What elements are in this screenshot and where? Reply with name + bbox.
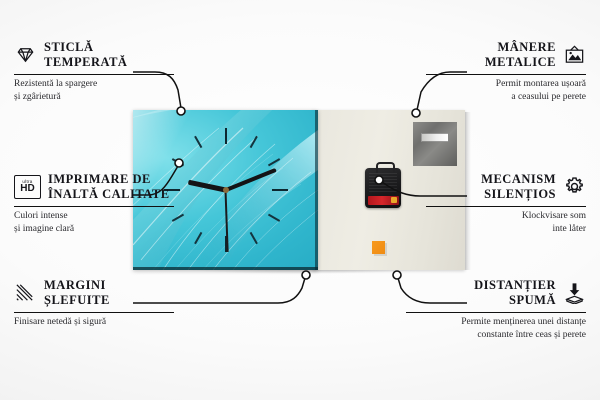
- callout-rule: [426, 206, 586, 208]
- foam-spacer: [372, 241, 385, 254]
- callout-subtitle: Culori intense și imagine clară: [14, 210, 174, 236]
- callout-subtitle: Permite menținerea unei distanțe constan…: [406, 316, 586, 342]
- battery-plus-terminal: [391, 197, 397, 203]
- callout-imprimare-inalta-calitate: ultraHD IMPRIMARE DE ÎNALTĂ CALITATE Cul…: [14, 172, 174, 236]
- callout-title: MECANISM SILENȚIOS: [481, 172, 556, 202]
- clock-center-pin: [223, 187, 229, 193]
- callout-rule: [14, 74, 174, 76]
- callout-subtitle: Rezistentă la spargere și zgârietură: [14, 78, 174, 104]
- glass-right-edge: [315, 110, 318, 270]
- callout-header: MARGINI ȘLEFUITE: [14, 278, 174, 308]
- callout-rule: [14, 312, 174, 314]
- mechanism-hanging-loop: [376, 162, 395, 173]
- callout-manere-metalice: MÂNERE METALICE Permit montarea ușoară a…: [426, 40, 586, 104]
- callout-title: STICLĂ TEMPERATĂ: [44, 40, 127, 70]
- callout-distantier-spuma: DISTANȚIER SPUMĂ Permite menținerea unei…: [406, 278, 586, 342]
- callout-margini-slefuite: MARGINI ȘLEFUITE Finisare netedă și sigu…: [14, 278, 174, 329]
- infographic-stage: STICLĂ TEMPERATĂ Rezistentă la spargere …: [0, 0, 600, 400]
- ultra-hd-icon: ultraHD: [14, 175, 41, 199]
- picture-hanger-icon: [563, 43, 586, 66]
- polished-edge-icon: [14, 281, 37, 304]
- callout-mecanism-silentios: MECANISM SILENȚIOS Klockvisare som inte …: [426, 172, 586, 236]
- callout-subtitle: Finisare netedă și sigură: [14, 316, 174, 329]
- mechanism-ridges: [369, 173, 397, 193]
- callout-rule: [426, 74, 586, 76]
- glass-bottom-edge: [133, 267, 318, 270]
- callout-subtitle: Permit montarea ușoară a ceasului pe per…: [426, 78, 586, 104]
- callout-header: STICLĂ TEMPERATĂ: [14, 40, 174, 70]
- callout-title: IMPRIMARE DE ÎNALTĂ CALITATE: [48, 172, 170, 202]
- callout-header: MECANISM SILENȚIOS: [426, 172, 586, 202]
- diamond-icon: [14, 43, 37, 66]
- metal-hanger-plate: [413, 122, 457, 166]
- callout-title: MARGINI ȘLEFUITE: [44, 278, 110, 308]
- foam-spacer-icon: [563, 281, 586, 304]
- callout-title: DISTANȚIER SPUMĂ: [474, 278, 556, 308]
- callout-subtitle: Klockvisare som inte låter: [426, 210, 586, 236]
- callout-header: DISTANȚIER SPUMĂ: [406, 278, 586, 308]
- product-illustration: [133, 110, 465, 270]
- callout-rule: [14, 206, 174, 208]
- hanger-slot: [421, 133, 449, 142]
- callout-sticla-temperata: STICLĂ TEMPERATĂ Rezistentă la spargere …: [14, 40, 174, 104]
- gear-icon: [563, 175, 586, 198]
- callout-rule: [406, 312, 586, 314]
- clock-mechanism: [365, 168, 401, 208]
- callout-header: ultraHD IMPRIMARE DE ÎNALTĂ CALITATE: [14, 172, 174, 202]
- callout-title: MÂNERE METALICE: [485, 40, 556, 70]
- battery: [368, 196, 399, 205]
- callout-header: MÂNERE METALICE: [426, 40, 586, 70]
